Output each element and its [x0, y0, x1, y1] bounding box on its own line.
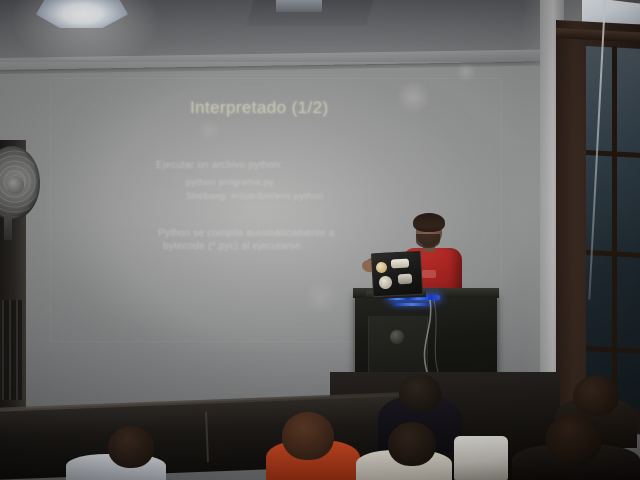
- presenter-beard: [416, 234, 440, 248]
- presenter-laptop: [371, 251, 423, 298]
- audience-person-head: [388, 422, 436, 466]
- wall-fan-hub: [6, 176, 24, 194]
- ceiling-light-secondary-icon: [276, 0, 322, 12]
- laptop-sticker: [398, 274, 413, 285]
- wall-fan-mount: [4, 214, 12, 240]
- photo-scene: Interpretado (1/2) Ejecutar un archivo p…: [0, 0, 640, 480]
- laptop-sticker: [391, 259, 409, 269]
- audience-person-head: [108, 426, 154, 468]
- audience-person-head: [546, 414, 602, 464]
- presenter-shirt-logo: [422, 270, 436, 278]
- slide-subbullet-1b: Shebang: #!/usr/bin/env python: [186, 191, 324, 202]
- slide-title: Interpretado (1/2): [190, 98, 329, 118]
- slide-bullet-2: Python se compila automáticamente a: [158, 228, 335, 239]
- audience-person-head: [399, 374, 441, 412]
- left-door-grille: [2, 300, 22, 400]
- led-indicator-strip-secondary: [394, 303, 430, 306]
- audience-person-head: [282, 412, 334, 460]
- slide-bullet-1: Ejecutar un archivo python:: [156, 160, 283, 171]
- presenter-hair: [413, 213, 445, 232]
- slide-bullet-2-cont: bytecode (*.pyc) al ejecutarse.: [163, 241, 304, 252]
- audience-person-head: [573, 376, 619, 416]
- audience-chair: [454, 436, 508, 480]
- slide-subbullet-1a: python programa.py: [186, 177, 274, 188]
- speaker-cone-icon: [390, 330, 404, 344]
